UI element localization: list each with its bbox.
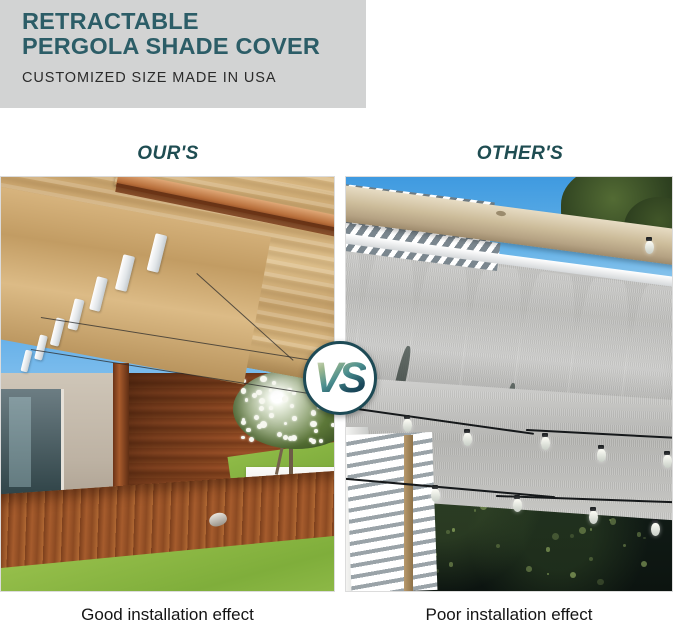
vs-badge: VS xyxy=(303,341,377,415)
wood-post xyxy=(404,435,413,592)
blossom xyxy=(241,388,247,394)
leaf xyxy=(552,533,559,540)
blossom xyxy=(314,429,318,433)
leaf xyxy=(474,509,476,511)
blossom xyxy=(256,390,262,396)
light-bulb xyxy=(651,523,660,536)
blossom xyxy=(246,428,250,432)
caption-good-installation: Good installation effect xyxy=(0,605,335,625)
blossom xyxy=(282,396,288,402)
blossom xyxy=(311,439,316,444)
leaf xyxy=(641,561,647,567)
light-bulb xyxy=(403,419,412,432)
leaf xyxy=(546,547,550,551)
leaf xyxy=(526,566,532,572)
light-bulb xyxy=(645,241,654,254)
leaf xyxy=(547,573,549,575)
leaf xyxy=(643,537,646,540)
blossom xyxy=(260,376,266,382)
blossom xyxy=(245,398,248,401)
leaf xyxy=(579,527,586,534)
blossom xyxy=(311,410,316,415)
photo-good-installation xyxy=(0,176,335,592)
glass-door-reflection xyxy=(9,397,31,487)
blossom xyxy=(257,424,263,430)
label-others: OTHER'S xyxy=(430,143,610,165)
blossom xyxy=(269,413,274,418)
label-ours: OUR'S xyxy=(88,143,248,165)
blossom xyxy=(241,420,246,425)
light-bulb xyxy=(663,455,672,468)
light-bulb xyxy=(541,437,550,450)
page-title-line-1: RETRACTABLE xyxy=(22,9,362,34)
light-bulb xyxy=(463,433,472,446)
caption-poor-installation: Poor installation effect xyxy=(345,605,673,625)
leaf xyxy=(496,544,500,548)
header-banner: RETRACTABLE PERGOLA SHADE COVER CUSTOMIZ… xyxy=(0,0,366,108)
blossom xyxy=(331,423,335,428)
photo-poor-installation xyxy=(345,176,673,592)
light-bulb xyxy=(589,511,598,524)
blossom xyxy=(310,421,317,428)
blossom xyxy=(277,432,282,437)
page-title: RETRACTABLE PERGOLA SHADE COVER xyxy=(22,9,362,59)
blossom xyxy=(269,406,273,410)
leaf xyxy=(449,562,453,566)
leaf xyxy=(570,572,576,578)
leaf xyxy=(589,557,593,561)
blossom xyxy=(254,415,259,420)
leaf xyxy=(637,532,642,537)
blossom xyxy=(272,381,276,385)
blossom xyxy=(292,416,296,420)
blossom xyxy=(259,398,265,404)
louvered-shutter xyxy=(346,432,437,592)
blossom xyxy=(290,404,294,408)
blossom xyxy=(319,439,323,443)
light-bulb xyxy=(431,489,440,502)
page-subtitle: CUSTOMIZED SIZE MADE IN USA xyxy=(22,70,276,86)
blossom xyxy=(269,389,272,392)
leaf xyxy=(446,530,450,534)
page-title-line-2: PERGOLA SHADE COVER xyxy=(22,34,362,59)
leaf xyxy=(597,579,603,585)
leaf xyxy=(623,544,626,547)
leaf xyxy=(452,528,455,531)
leaf xyxy=(570,534,574,538)
pergola-post xyxy=(113,363,129,503)
leaf xyxy=(590,528,592,530)
light-bulb xyxy=(597,449,606,462)
vs-badge-label: VS xyxy=(314,357,366,400)
blossom xyxy=(284,422,287,425)
blossom xyxy=(259,406,264,411)
leaf xyxy=(610,518,616,524)
light-bulb xyxy=(513,499,522,512)
